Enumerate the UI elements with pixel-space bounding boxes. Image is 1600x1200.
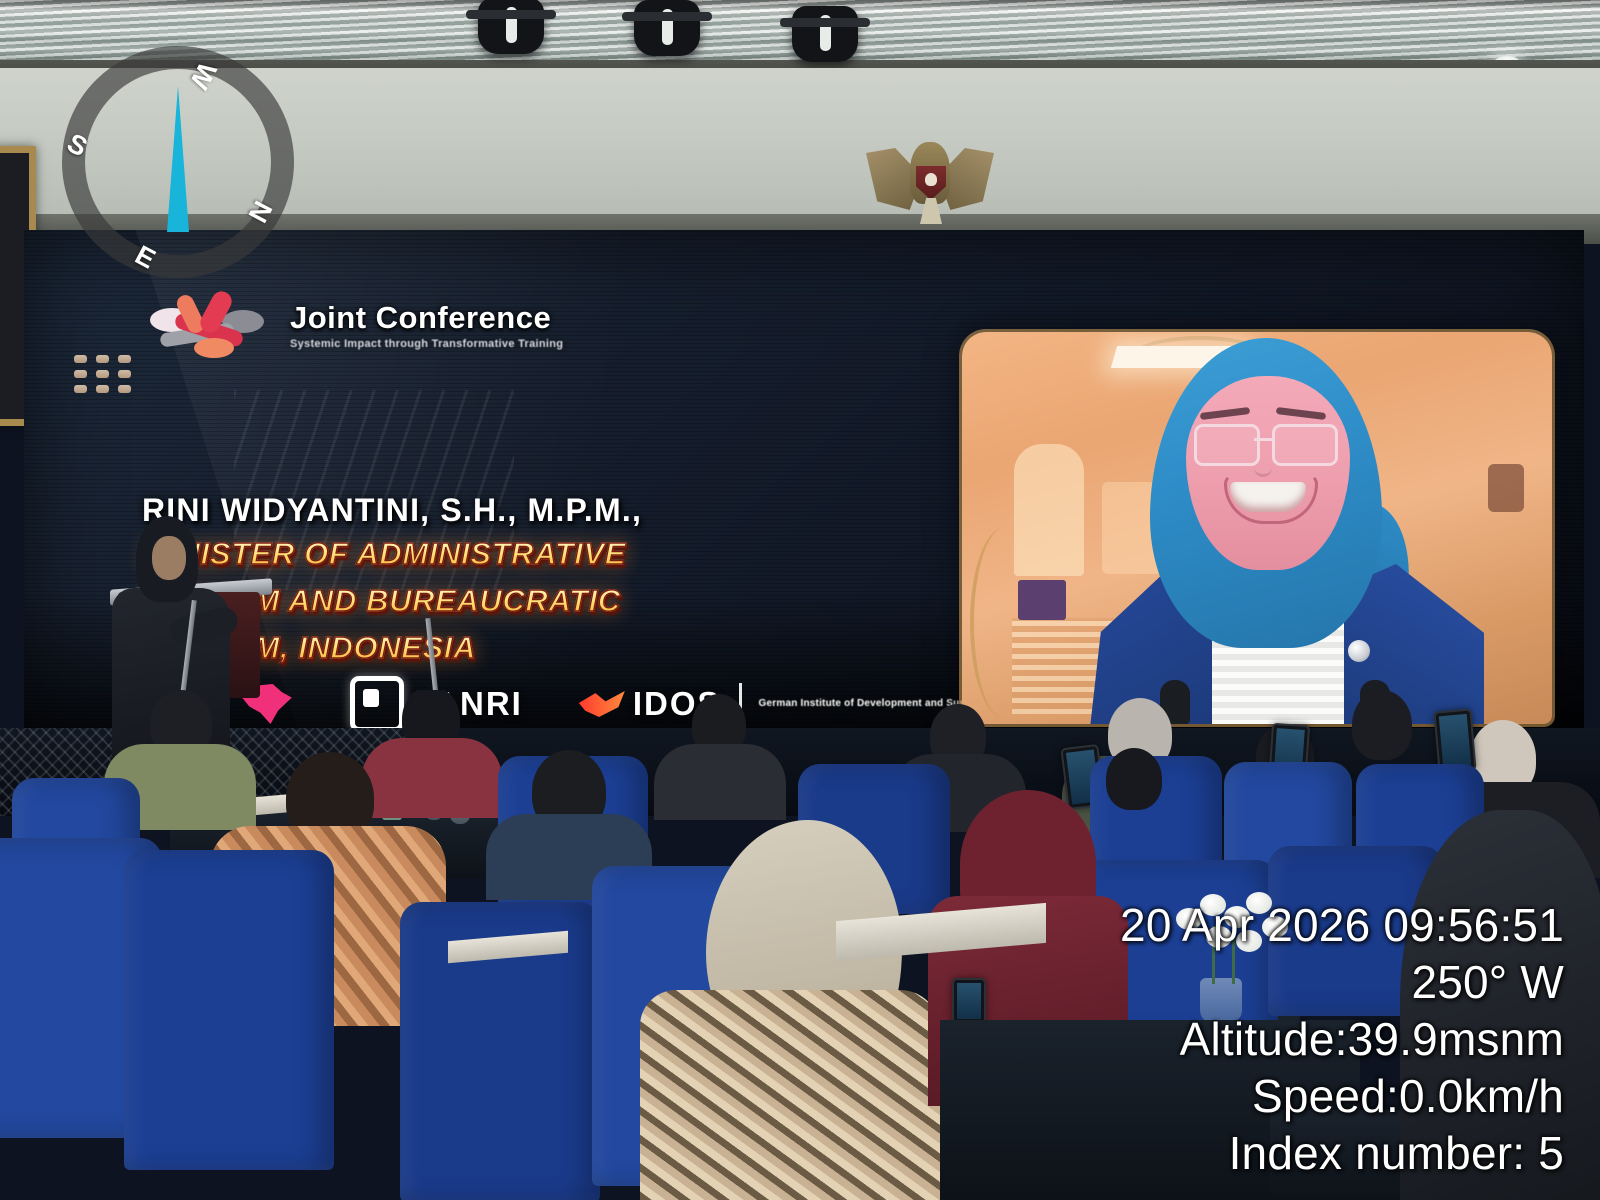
garuda-pancasila-emblem [866,132,994,236]
joint-conference-logo: Joint Conference Systemic Impact through… [148,288,563,362]
gps-altitude: Altitude:39.9msnm [1120,1011,1564,1068]
stage-spotlight [792,6,858,62]
gps-index: Index number: 5 [1120,1125,1564,1182]
smartphone [952,978,986,1024]
gps-speed: Speed:0.0km/h [1120,1068,1564,1125]
conference-title: Joint Conference [290,300,563,336]
compass-widget: W S N E [62,46,294,278]
eyeglasses-icon [1194,424,1260,466]
led-dot-grid-decor [74,355,136,396]
conference-tagline: Systemic Impact through Transformative T… [290,338,563,350]
audience-head [1106,748,1162,810]
gps-bearing: 250° W [1120,954,1564,1011]
live-video-panel [962,332,1552,724]
audience-chair [124,850,334,1170]
audience-shoulders [654,744,786,820]
conference-photo: Joint Conference Systemic Impact through… [0,0,1600,1200]
stage-spotlight [478,0,544,54]
conference-people-icon [148,288,276,362]
stage-spotlight [634,0,700,56]
audience-head [1352,690,1412,760]
lapel-pin [1348,640,1370,662]
gps-stamp-overlay: 20 Apr 2026 09:56:51 250° W Altitude:39.… [1120,897,1564,1182]
gps-datetime: 20 Apr 2026 09:56:51 [1120,897,1564,954]
audience-member-patterned-top [640,990,940,1200]
audience-shoulders [362,738,502,818]
